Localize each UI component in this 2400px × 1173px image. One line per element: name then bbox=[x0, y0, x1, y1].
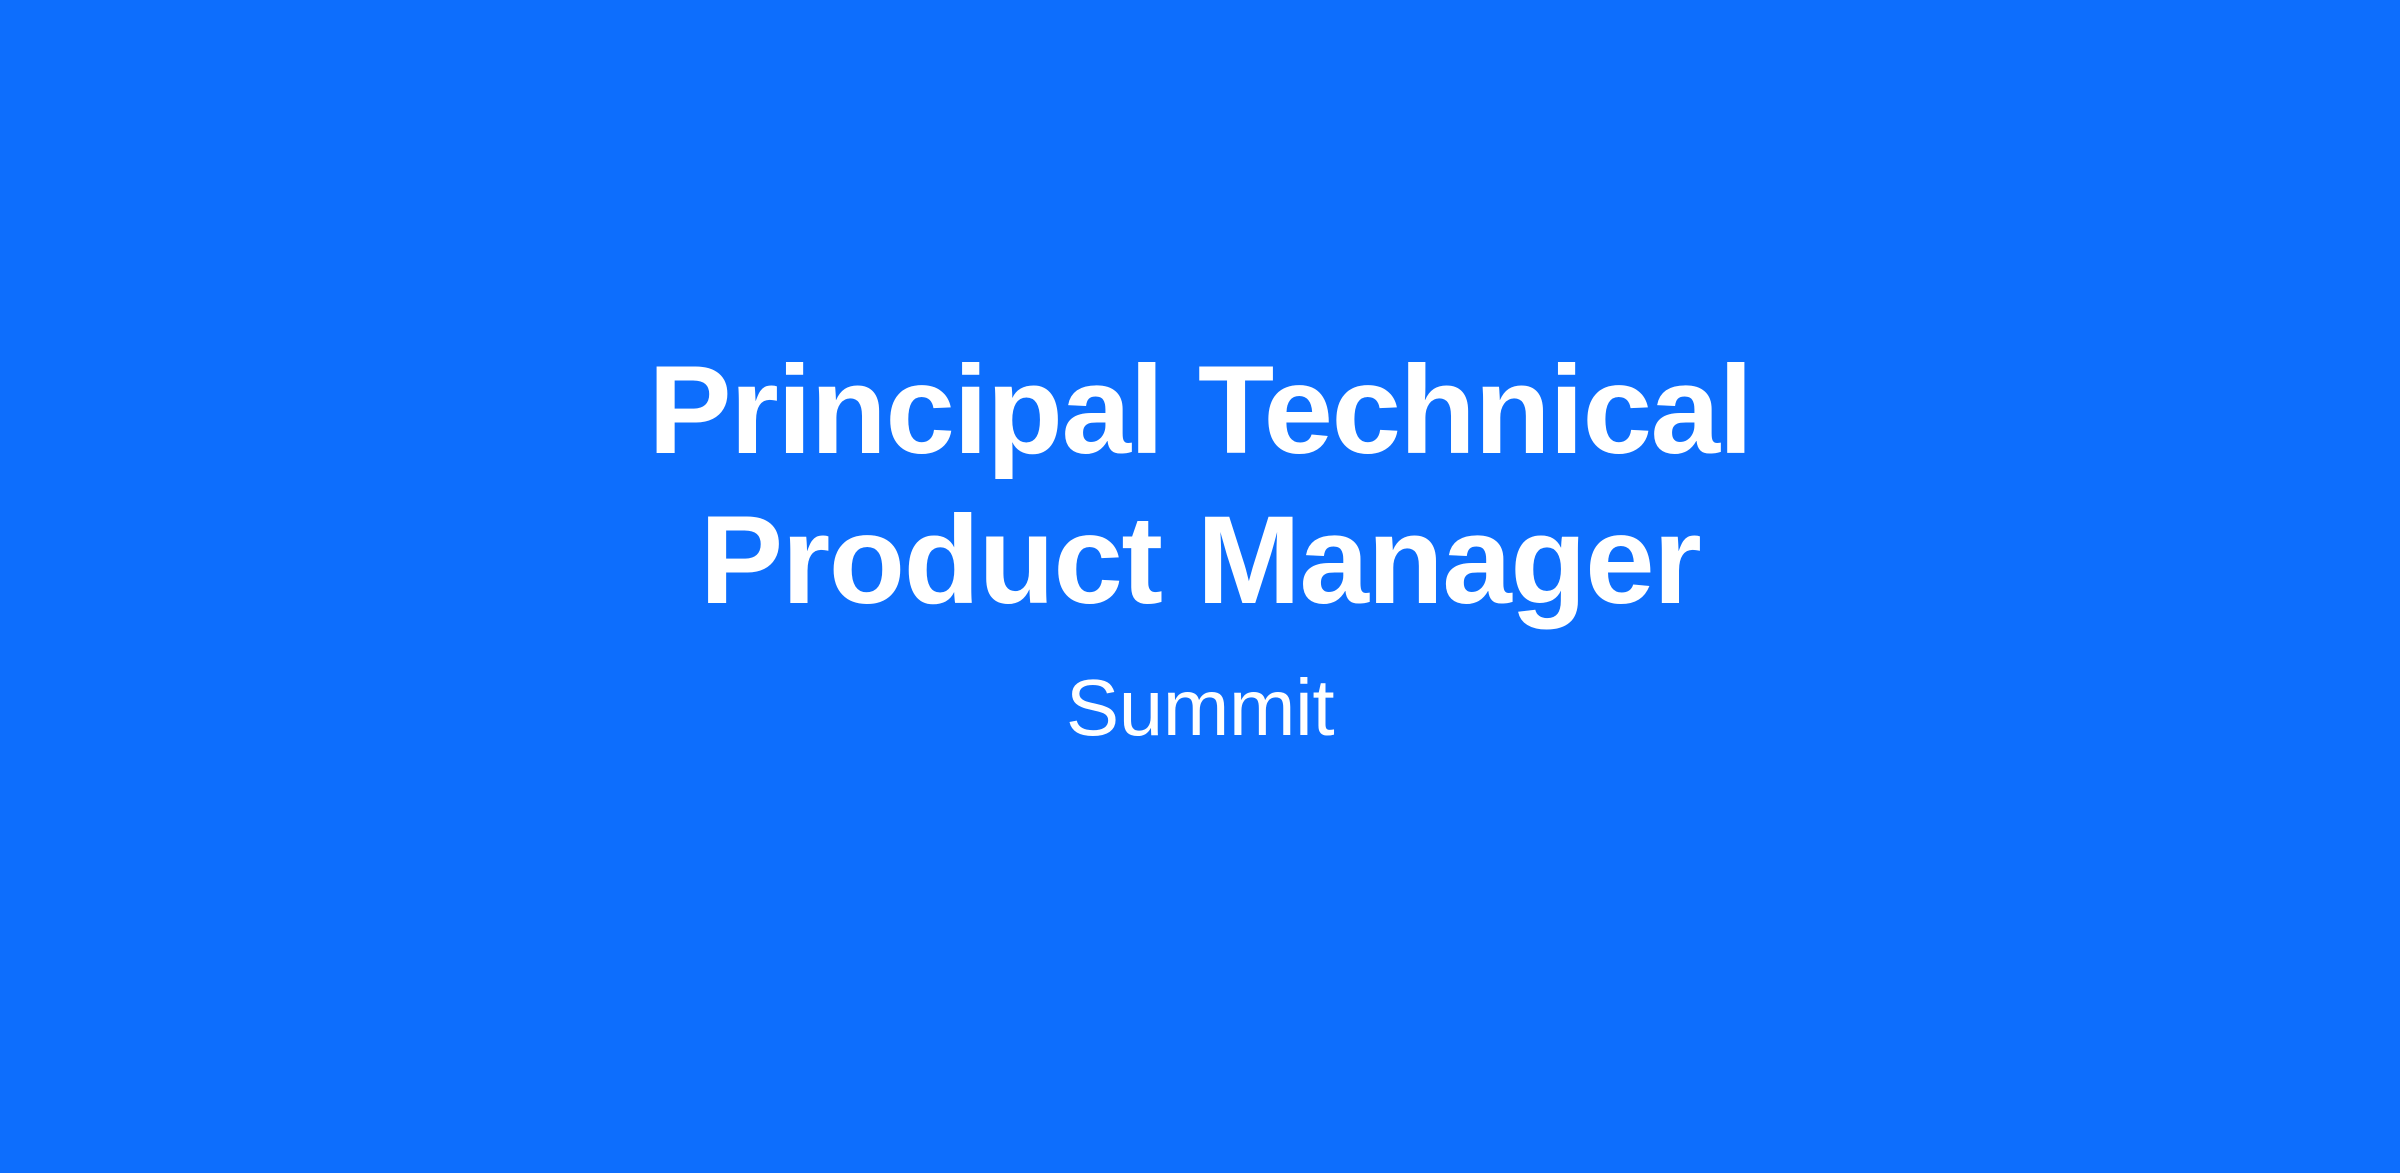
page-subtitle: Summit bbox=[1066, 662, 1334, 754]
title-slide: Principal Technical Product Manager Summ… bbox=[0, 0, 2400, 1173]
page-title: Principal Technical Product Manager bbox=[440, 336, 1960, 636]
slide-text-block: Principal Technical Product Manager Summ… bbox=[0, 336, 2400, 754]
